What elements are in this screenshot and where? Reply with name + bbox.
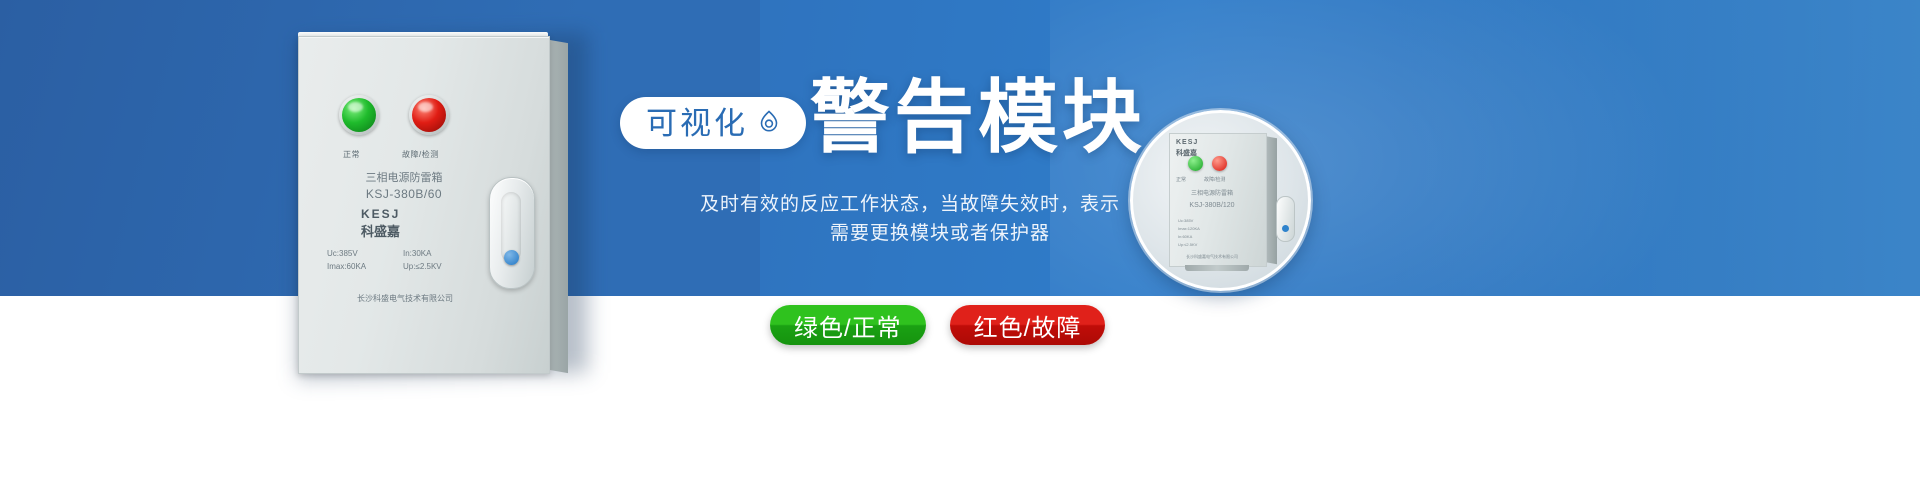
handle-lock-knob (504, 250, 519, 265)
spec-in: In:30KA (403, 249, 431, 258)
spec-uc: Uc:385V (327, 249, 358, 258)
brand-cn: 科盛嘉 (361, 221, 400, 240)
brand-latin: KESJ (361, 207, 400, 221)
inset-spec-imax: Imax:120KA (1178, 226, 1200, 231)
location-pin-icon (758, 110, 780, 136)
status-tag-group: 绿色/正常 红色/故障 (770, 305, 1105, 345)
promo-banner: 正常 故障/检测 三相电源防雷箱 KSJ-380B/60 KESJ 科盛嘉 Uc… (0, 0, 1920, 500)
spec-imax: Imax:60KA (327, 262, 366, 271)
inset-company: 长沙科盛嘉电气技术有限公司 (1172, 254, 1252, 260)
inset-lamp-label-normal: 正常 (1176, 176, 1186, 183)
status-tag-fault: 红色/故障 (950, 305, 1106, 345)
subtitle-line-2: 需要更换模块或者保护器 (700, 219, 1050, 248)
pill-label: 可视化 (646, 108, 748, 139)
inset-lamp-red (1212, 156, 1227, 171)
inset-lamp-label-fault: 故障/检测 (1204, 176, 1225, 183)
page-title: 警告模块 (810, 78, 1146, 158)
inset-spec-uc: Uc:385V (1178, 218, 1193, 223)
nameplate-model: KSJ-380B/60 (319, 187, 489, 201)
inset-lamp-green (1188, 156, 1203, 171)
subtitle-block: 及时有效的反应工作状态，当故障失效时，表示 需要更换模块或者保护器 (700, 190, 1050, 248)
status-tag-normal: 绿色/正常 (770, 305, 926, 345)
indicator-lamp-green (339, 95, 379, 135)
nameplate-title: 三相电源防雷箱 (319, 169, 489, 185)
inset-enclosure-base (1185, 265, 1249, 271)
inset-enclosure-front: KESJ 科盛嘉 正常 故障/检测 三相电源防雷箱 KSJ-380B/120 U… (1169, 133, 1267, 267)
visualization-pill-badge: 可视化 (620, 97, 806, 149)
inset-nameplate-model: KSJ-380B/120 (1174, 202, 1250, 209)
inset-nameplate-title: 三相电源防雷箱 (1174, 188, 1250, 197)
nameplate-company: 长沙科盛电气技术有限公司 (315, 293, 495, 304)
lamp-label-normal: 正常 (343, 149, 360, 160)
subtitle-line-1: 及时有效的反应工作状态，当故障失效时，表示 (700, 190, 1050, 219)
door-handle (489, 177, 535, 290)
inset-brand-latin: KESJ (1176, 139, 1198, 146)
inset-product-photo: KESJ 科盛嘉 正常 故障/检测 三相电源防雷箱 KSJ-380B/120 U… (1130, 110, 1311, 291)
lamp-highlight-green (348, 102, 363, 112)
enclosure-front-panel: 正常 故障/检测 三相电源防雷箱 KSJ-380B/60 KESJ 科盛嘉 Uc… (298, 36, 550, 374)
indicator-lamp-red (409, 95, 449, 135)
spec-up: Up:≤2.5KV (403, 262, 442, 271)
lamp-label-fault: 故障/检测 (402, 149, 439, 160)
inset-spec-in: In:60KA (1178, 234, 1192, 239)
inset-spec-up: Up:≤2.5KV (1178, 242, 1197, 247)
product-photo: 正常 故障/检测 三相电源防雷箱 KSJ-380B/60 KESJ 科盛嘉 Uc… (280, 0, 700, 420)
inset-handle-knob (1282, 225, 1289, 232)
inset-door-handle (1276, 196, 1295, 242)
lamp-highlight-red (418, 102, 433, 112)
